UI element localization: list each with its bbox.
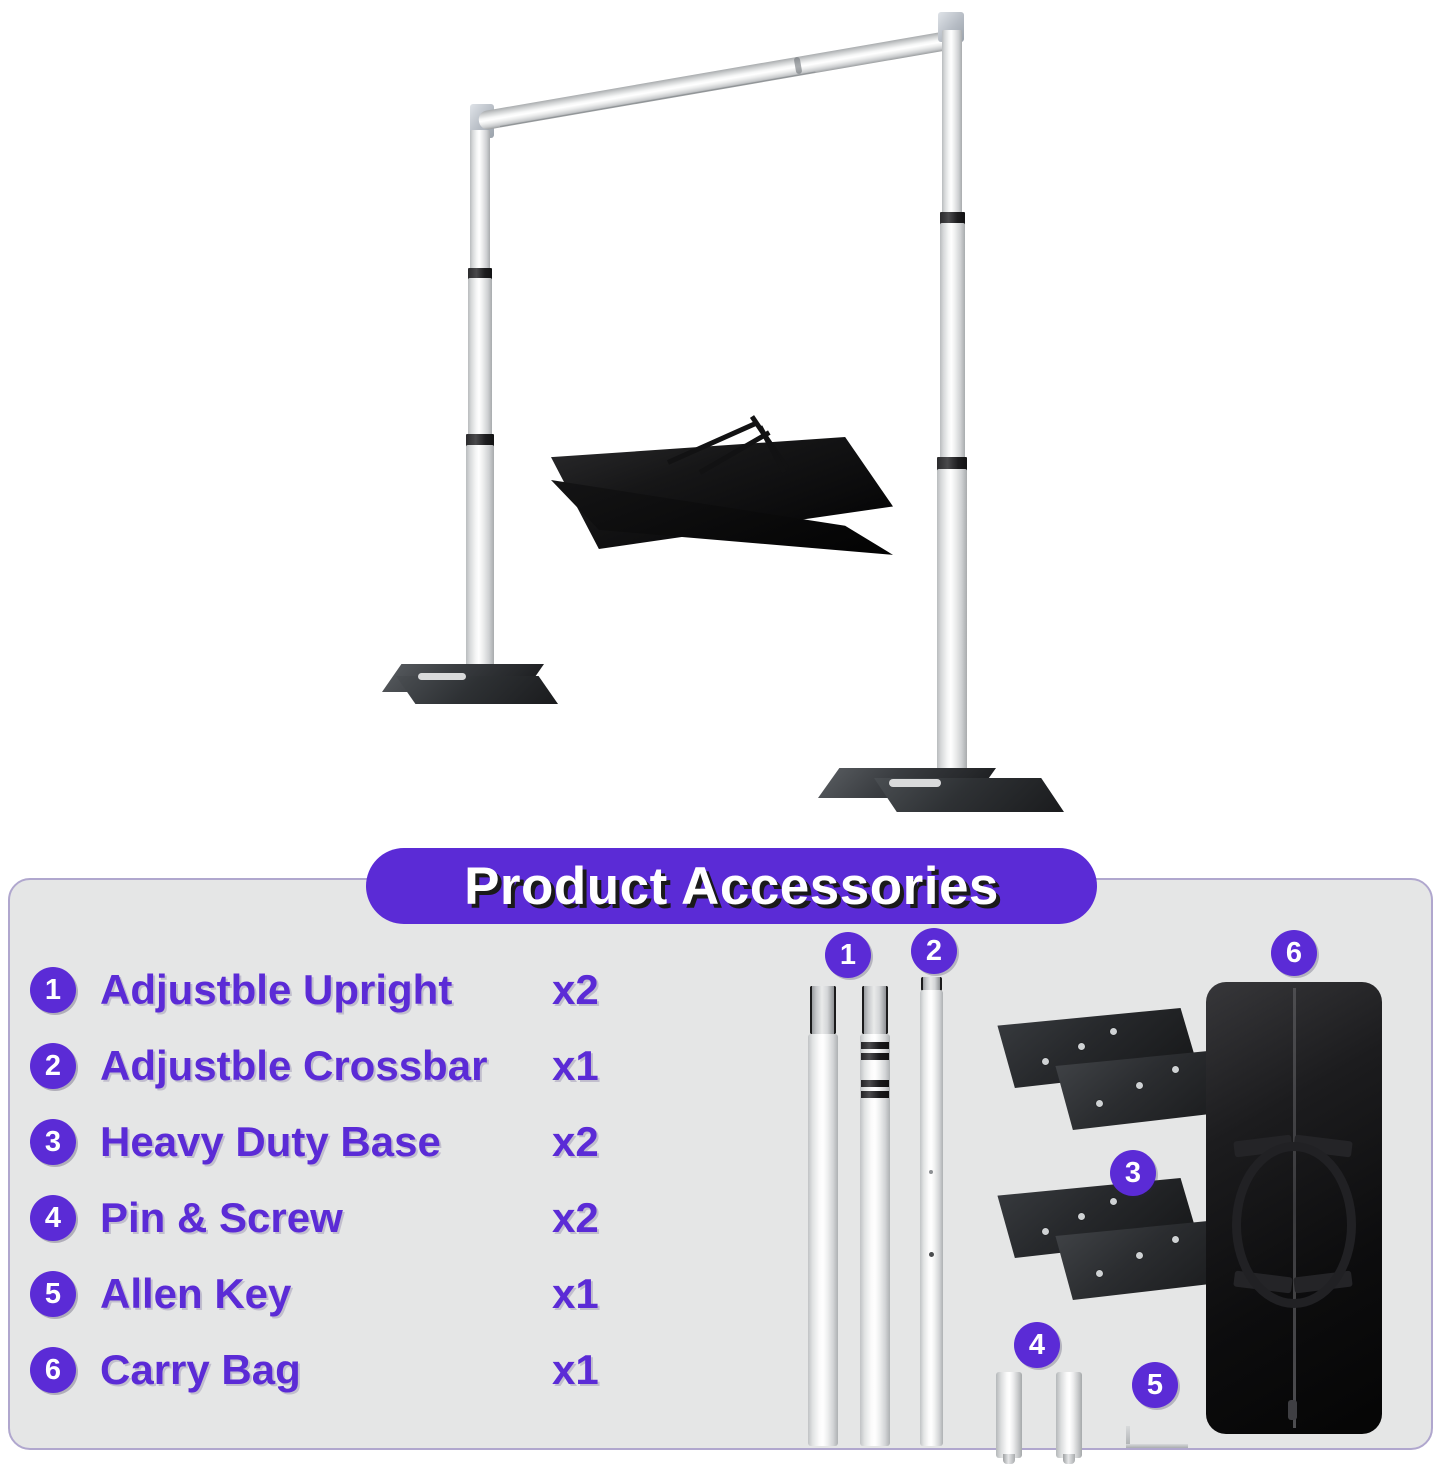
upright-b-ring-2 bbox=[861, 1053, 889, 1060]
upright-a-shaft bbox=[808, 1034, 838, 1446]
list-item: 5 Allen Key x1 bbox=[30, 1256, 670, 1332]
right-upright-tube-lower bbox=[937, 469, 967, 791]
crossbar-shaft bbox=[920, 990, 943, 1446]
accessory-label-3: Heavy Duty Base bbox=[100, 1118, 441, 1166]
left-upright-tube-upper bbox=[470, 130, 490, 280]
accessory-qty-6: x1 bbox=[552, 1346, 599, 1394]
accessory-label-2: Adjustble Crossbar bbox=[100, 1042, 487, 1090]
diagram-badge-2: 2 bbox=[911, 928, 957, 974]
base-plate-1-hole-a bbox=[1042, 1058, 1049, 1065]
list-item: 6 Carry Bag x1 bbox=[30, 1332, 670, 1408]
list-item: 3 Heavy Duty Base x2 bbox=[30, 1104, 670, 1180]
parts-diagram: 1 2 3 4 5 6 bbox=[790, 920, 1430, 1450]
product-accessories-title-pill: Product Accessories bbox=[366, 848, 1097, 924]
list-item: 4 Pin & Screw x2 bbox=[30, 1180, 670, 1256]
base-plate-1-hole-b bbox=[1078, 1043, 1085, 1050]
accessory-label-5: Allen Key bbox=[100, 1270, 291, 1318]
allen-key-long-arm bbox=[1126, 1444, 1188, 1448]
list-item: 1 Adjustble Upright x2 bbox=[30, 952, 670, 1028]
diagram-badge-1: 1 bbox=[825, 932, 871, 978]
badge-4: 4 bbox=[30, 1195, 76, 1241]
pin-screw-1-head bbox=[1003, 1454, 1015, 1464]
accessory-qty-4: x2 bbox=[552, 1194, 599, 1242]
pin-screw-2-head bbox=[1063, 1454, 1075, 1464]
carry-bag bbox=[1206, 982, 1382, 1434]
upright-a-top-cap bbox=[810, 986, 836, 1034]
upright-b-ring-1 bbox=[861, 1042, 889, 1049]
badge-3: 3 bbox=[30, 1119, 76, 1165]
left-base-slot bbox=[418, 673, 466, 680]
badge-5: 5 bbox=[30, 1271, 76, 1317]
accessory-qty-3: x2 bbox=[552, 1118, 599, 1166]
crossbar-pin-hole-1 bbox=[929, 1170, 933, 1174]
accessory-label-1: Adjustble Upright bbox=[100, 966, 452, 1014]
base-plate-2-hole-b bbox=[1136, 1082, 1143, 1089]
accessory-qty-2: x1 bbox=[552, 1042, 599, 1090]
accessory-label-4: Pin & Screw bbox=[100, 1194, 343, 1242]
diagram-badge-3: 3 bbox=[1110, 1150, 1156, 1196]
base-plate-3-hole-b bbox=[1078, 1213, 1085, 1220]
upright-b-ring-3 bbox=[861, 1080, 889, 1087]
base-plate-2-hole-a bbox=[1096, 1100, 1103, 1107]
left-upright-tube-middle bbox=[468, 278, 492, 440]
carry-bag-zipper-pull bbox=[1288, 1400, 1297, 1420]
crossbar-pin-hole-2 bbox=[929, 1252, 934, 1257]
badge-6: 6 bbox=[30, 1347, 76, 1393]
crossbar-tube bbox=[477, 30, 955, 131]
pin-screw-2 bbox=[1056, 1372, 1082, 1458]
right-upright-tube-upper bbox=[942, 30, 962, 216]
accessory-qty-5: x1 bbox=[552, 1270, 599, 1318]
hero-product-photo bbox=[0, 0, 1445, 860]
left-base-plate-front bbox=[396, 676, 558, 704]
base-plate-4-hole-a bbox=[1096, 1270, 1103, 1277]
right-base-slot bbox=[889, 779, 941, 787]
right-upright-tube-middle bbox=[940, 223, 965, 461]
accessory-label-6: Carry Bag bbox=[100, 1346, 301, 1394]
base-plate-2-hole-c bbox=[1172, 1066, 1179, 1073]
crossbar-end-cap bbox=[921, 977, 942, 991]
pin-screw-1 bbox=[996, 1372, 1022, 1458]
accessories-list: 1 Adjustble Upright x2 2 Adjustble Cross… bbox=[30, 952, 670, 1408]
page-title: Product Accessories bbox=[464, 856, 999, 917]
base-plate-1-hole-c bbox=[1110, 1028, 1117, 1035]
diagram-badge-5: 5 bbox=[1132, 1362, 1178, 1408]
diagram-badge-4: 4 bbox=[1014, 1322, 1060, 1368]
base-plate-3-hole-a bbox=[1042, 1228, 1049, 1235]
upright-b-ring-4 bbox=[861, 1091, 889, 1098]
accessory-qty-1: x2 bbox=[552, 966, 599, 1014]
diagram-badge-6: 6 bbox=[1271, 930, 1317, 976]
upright-b-top-cap bbox=[862, 986, 888, 1034]
base-plate-3-hole-c bbox=[1110, 1198, 1117, 1205]
base-plate-4-hole-b bbox=[1136, 1252, 1143, 1259]
left-upright-tube-lower bbox=[466, 445, 494, 677]
base-plate-4-hole-c bbox=[1172, 1236, 1179, 1243]
carry-bag-handle bbox=[1232, 1142, 1356, 1308]
list-item: 2 Adjustble Crossbar x1 bbox=[30, 1028, 670, 1104]
badge-1: 1 bbox=[30, 967, 76, 1013]
badge-2: 2 bbox=[30, 1043, 76, 1089]
